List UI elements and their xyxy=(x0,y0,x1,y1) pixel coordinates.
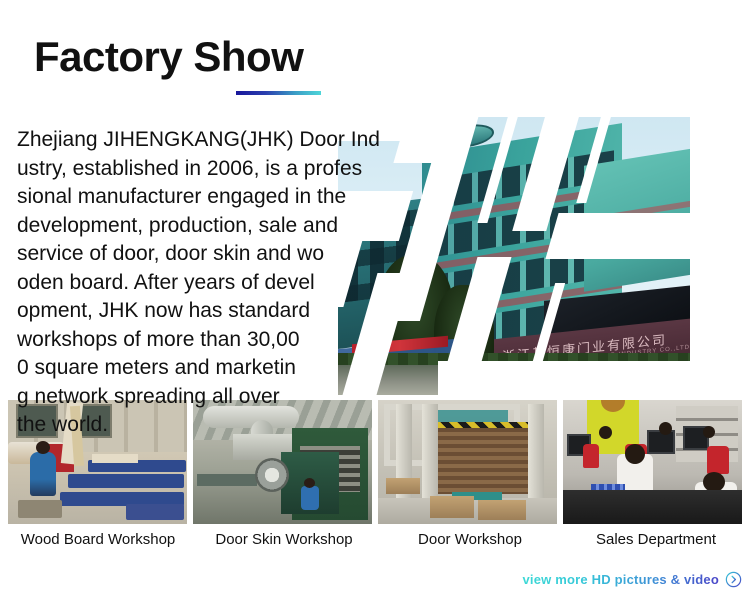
page-title: Factory Show xyxy=(34,32,303,82)
jhk-stripe xyxy=(545,213,690,259)
thumbnail-caption: Wood Board Workshop xyxy=(8,531,188,548)
view-more-label: view more HD pictures & video xyxy=(522,572,719,587)
thumbnail-caption: Door Workshop xyxy=(380,531,560,548)
thumbnail-caption: Sales Department xyxy=(566,531,746,548)
company-intro-paragraph: Zhejiang JIHENGKANG(JHK) Door Ind ustry,… xyxy=(17,126,437,440)
view-more-link[interactable]: view more HD pictures & video xyxy=(522,571,742,588)
thumbnail-sales-department[interactable] xyxy=(563,400,742,524)
factory-show-page: Factory Show Zhejiang JIHENGKANG(JHK) Do… xyxy=(0,0,750,613)
thumbnail-caption: Door Skin Workshop xyxy=(194,531,374,548)
jhk-stripe xyxy=(438,361,690,395)
chevron-right-circle-icon[interactable] xyxy=(725,571,742,588)
title-underline-rule xyxy=(236,91,321,95)
